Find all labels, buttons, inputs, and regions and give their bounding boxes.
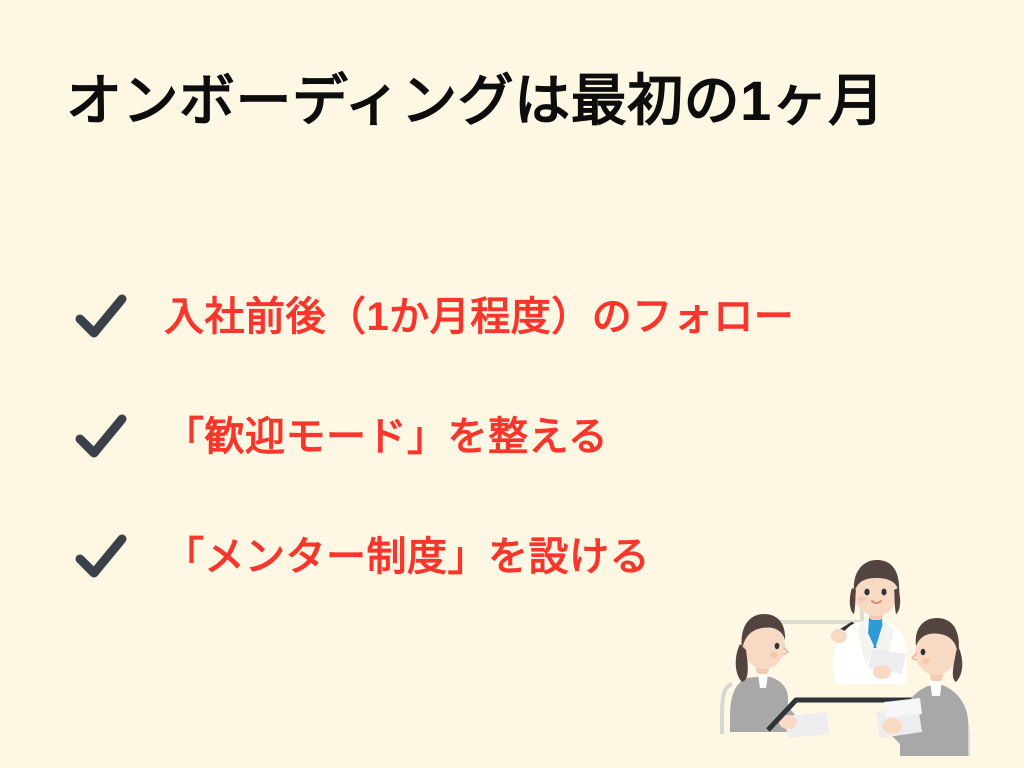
list-item: 「歓迎モード」を整える — [70, 402, 950, 472]
list-item: 入社前後（1か月程度）のフォロー — [70, 282, 950, 352]
list-item-label: 入社前後（1か月程度）のフォロー — [164, 293, 794, 341]
list-item-label: 「メンター制度」を設ける — [164, 533, 650, 581]
whiteboard-icon — [772, 568, 862, 622]
check-icon — [70, 406, 132, 468]
check-icon — [70, 286, 132, 348]
bullet-list: 入社前後（1か月程度）のフォロー 「歓迎モード」を整える 「メンター制度」を設け… — [70, 282, 950, 592]
meeting-illustration — [706, 556, 1018, 762]
slide-canvas: オンボーディングは最初の1ヶ月 入社前後（1か月程度）のフォロー 「歓迎モード」… — [0, 0, 1024, 768]
check-icon — [70, 526, 132, 588]
list-item-label: 「歓迎モード」を整える — [164, 413, 608, 461]
page-title: オンボーディングは最初の1ヶ月 — [66, 68, 966, 134]
